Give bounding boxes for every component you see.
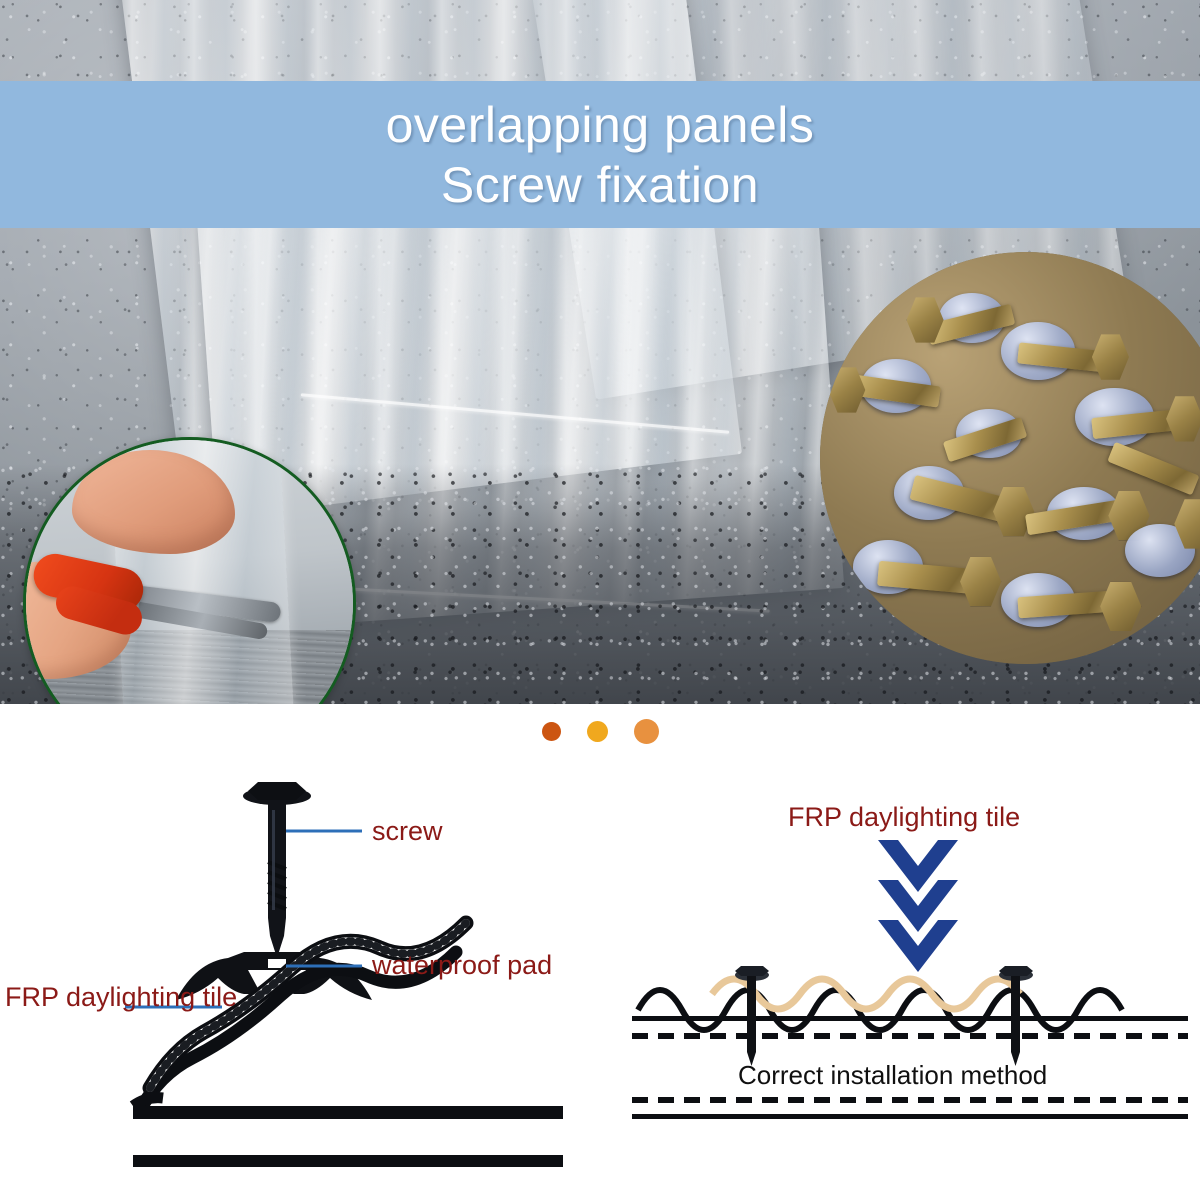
label-screw: screw [372, 816, 443, 847]
diagrams-section: screw waterproof pad FRP daylighting til… [0, 770, 1200, 1200]
correct-installation-diagram: FRP daylighting tile [620, 770, 1200, 1200]
banner-title-line-2: Screw fixation [441, 160, 759, 210]
screw-illustration [243, 782, 311, 958]
screw-hex-head [960, 557, 1001, 606]
pagination-dot-1[interactable] [542, 722, 561, 741]
banner-title-line-1: overlapping panels [386, 100, 815, 150]
screw-hex-head [828, 367, 865, 412]
screw-hex-head [1100, 582, 1141, 631]
frp-overlay-wave [712, 979, 1020, 1009]
down-arrow-chevrons [878, 840, 958, 972]
base-support-bar [133, 1155, 563, 1167]
headline-banner: overlapping panels Screw fixation [0, 81, 1200, 228]
pagination-dot-3[interactable] [634, 719, 659, 744]
screw-shank [1108, 442, 1200, 495]
label-frp-daylighting-tile: FRP daylighting tile [5, 982, 237, 1013]
hero-photo: Easy to cut overlapping panels Screw fix… [0, 0, 1200, 704]
caption-correct-installation: Correct installation method [738, 1060, 1047, 1091]
label-frp-daylighting-tile-right: FRP daylighting tile [788, 802, 1020, 833]
pagination-dots[interactable] [0, 714, 1200, 748]
roof-corrugation [638, 990, 1122, 1030]
screw-hex-head [1092, 334, 1129, 379]
easy-to-cut-inset: Easy to cut [23, 437, 356, 704]
label-waterproof-pad: waterproof pad [372, 950, 552, 981]
installation-drawing [620, 770, 1200, 1200]
purlin-line [632, 1016, 1188, 1021]
screw-hex-head [1166, 396, 1200, 441]
infographic-page: Easy to cut overlapping panels Screw fix… [0, 0, 1200, 1200]
base-line [632, 1114, 1188, 1119]
screws-photo-inset [820, 252, 1200, 664]
pagination-dot-2[interactable] [587, 721, 608, 742]
cut-scene [26, 440, 353, 704]
screws-pile [820, 252, 1200, 664]
exploded-assembly-diagram: screw waterproof pad FRP daylighting til… [0, 770, 620, 1200]
